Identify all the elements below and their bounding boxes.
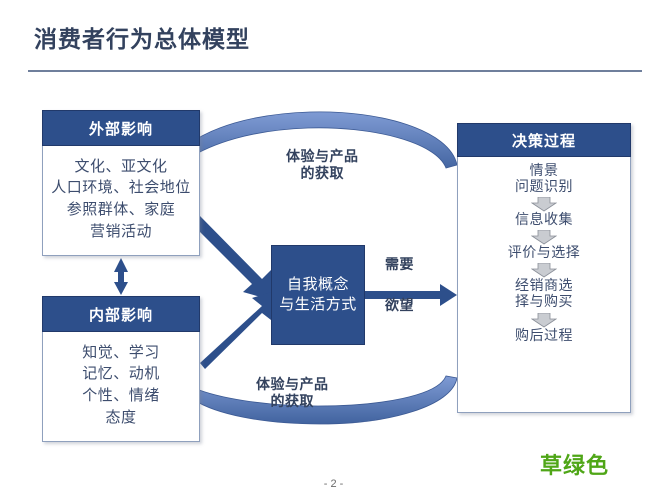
arrow-external-to-self [194,216,271,300]
arrow-internal-to-self [200,292,271,369]
decision-step-post-purchase: 购后过程 [515,329,573,345]
self-concept-line-1: 自我概念 [287,275,349,295]
external-line-2: 人口环境、社会地位 [51,178,191,200]
page-title: 消费者行为总体模型 [34,20,250,54]
arrow-external-internal [114,258,128,295]
decision-process-box[interactable]: 决策过程 情景 问题识别 信息收集 评价与选择 经销商选 择与购买 购后过程 [457,123,631,413]
page-number: - 2 - [0,478,667,490]
internal-line-2: 记忆、动机 [82,364,160,386]
down-arrow-icon [531,230,557,245]
label-need: 需要 [385,258,414,275]
internal-line-1: 知觉、学习 [82,343,160,365]
self-concept-line-2: 与生活方式 [279,295,357,315]
down-arrow-icon [531,197,557,212]
green-color-note: 草绿色 [540,448,609,480]
self-concept-box[interactable]: 自我概念 与生活方式 [271,245,365,345]
internal-influence-box[interactable]: 内部影响 知觉、学习 记忆、动机 个性、情绪 态度 [42,296,200,442]
down-arrow-icon [531,263,557,278]
decision-step-information-search: 信息收集 [515,213,573,229]
internal-line-3: 个性、情绪 [82,386,160,408]
decision-process-body: 情景 问题识别 信息收集 评价与选择 经销商选 择与购买 购后过程 [458,156,630,410]
decision-step-retailer-purchase: 经销商选 择与购买 [515,279,573,311]
external-line-3: 参照群体、家庭 [67,200,176,222]
external-influence-header: 外部影响 [42,110,200,146]
decision-step-evaluation: 评价与选择 [508,246,581,262]
label-bottom-feedback: 体验与产品 的获取 [256,378,329,412]
decision-step-retailer-purchase-line2: 择与购买 [515,295,573,311]
external-line-4: 营销活动 [90,222,152,244]
internal-influence-body: 知觉、学习 记忆、动机 个性、情绪 态度 [43,331,199,439]
decision-step-retailer-purchase-line1: 经销商选 [515,279,573,295]
label-bottom-feedback-line1: 体验与产品 [256,378,329,395]
label-top-feedback-line1: 体验与产品 [286,150,359,167]
down-arrow-icon [531,313,557,328]
decision-process-header: 决策过程 [457,123,631,157]
internal-line-4: 态度 [105,408,136,430]
decision-step-situation: 情景 [530,164,559,180]
external-influence-body: 文化、亚文化 人口环境、社会地位 参照群体、家庭 营销活动 [43,145,199,253]
external-influence-box[interactable]: 外部影响 文化、亚文化 人口环境、社会地位 参照群体、家庭 营销活动 [42,110,200,256]
decision-step-problem-recognition: 问题识别 [515,180,573,196]
title-divider [28,70,642,72]
label-desire: 欲望 [385,299,414,316]
internal-influence-header: 内部影响 [42,296,200,332]
label-top-feedback-line2: 的获取 [286,167,359,184]
label-top-feedback: 体验与产品 的获取 [286,150,359,184]
label-bottom-feedback-line2: 的获取 [256,395,329,412]
external-line-1: 文化、亚文化 [74,157,167,179]
